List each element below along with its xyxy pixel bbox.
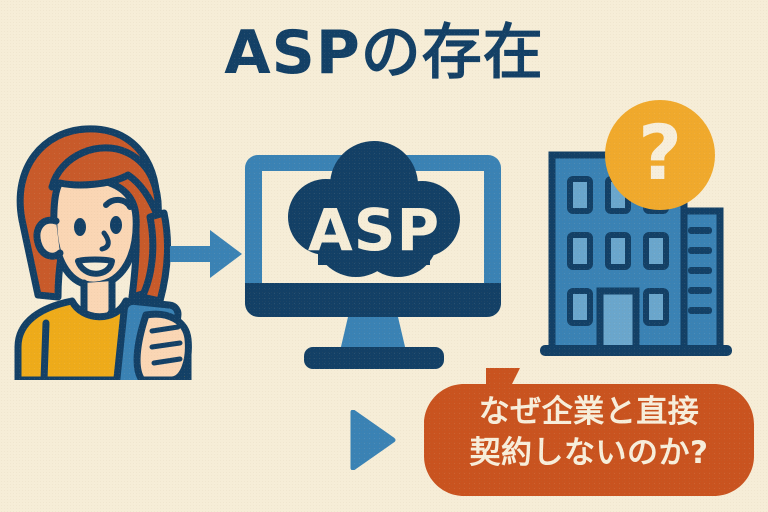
building-door [600,291,636,351]
shirt-fold [44,323,46,380]
triangle-right-icon [350,410,396,470]
speech-bubble: なぜ企業と直接 契約しないのか? [424,368,754,496]
question-mark-symbol: ? [638,108,682,197]
building-illustration: ? [536,95,736,360]
cloud-label: ASP [308,196,440,264]
mouth [78,260,112,274]
monitor-neck [340,317,406,351]
monitor-bottom-bar [245,283,501,317]
eye-left [74,218,86,236]
infographic-canvas: ASPの存在 [0,0,768,512]
arrow-right-icon [170,228,242,280]
ear [37,220,60,256]
eye-right [110,216,122,234]
monitor-illustration: ASP [238,125,508,375]
question-mark-icon: ? [605,100,715,210]
page-title: ASPの存在 [0,20,768,86]
speech-bubble-shape [424,368,754,496]
monitor-base [304,347,444,369]
building-ground [540,345,732,356]
